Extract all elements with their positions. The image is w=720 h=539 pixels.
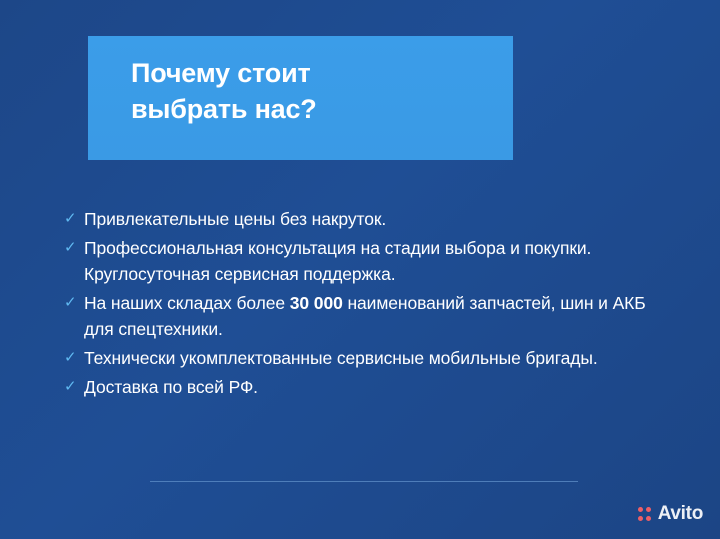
avito-logo-icon [638,506,653,523]
page-title: Почему стоит выбрать нас? [131,56,317,128]
avito-watermark-label: Avito [658,503,703,525]
list-item-text: Привлекательные цены без накруток. [84,206,672,232]
avito-watermark: Avito [638,503,703,525]
check-icon: ✓ [62,235,84,261]
list-item: ✓Привлекательные цены без накруток. [62,206,672,232]
list-item-text: Профессиональная консультация на стадии … [84,235,672,287]
list-item-text: Технически укомплектованные сервисные мо… [84,345,672,371]
check-icon: ✓ [62,345,84,371]
list-item-text: Доставка по всей РФ. [84,374,672,400]
list-item: ✓Профессиональная консультация на стадии… [62,235,672,287]
check-icon: ✓ [62,290,84,316]
check-icon: ✓ [62,374,84,400]
list-item: ✓На наших складах более 30 000 наименова… [62,290,672,342]
list-item: ✓Доставка по всей РФ. [62,374,672,400]
list-item-text: На наших складах более 30 000 наименован… [84,290,672,342]
title-banner: Почему стоит выбрать нас? [88,36,513,160]
footer-divider [150,481,578,482]
slide-canvas: Почему стоит выбрать нас? ✓Привлекательн… [0,0,720,539]
list-item: ✓Технически укомплектованные сервисные м… [62,345,672,371]
bullet-list: ✓Привлекательные цены без накруток.✓Проф… [62,206,672,403]
check-icon: ✓ [62,206,84,232]
